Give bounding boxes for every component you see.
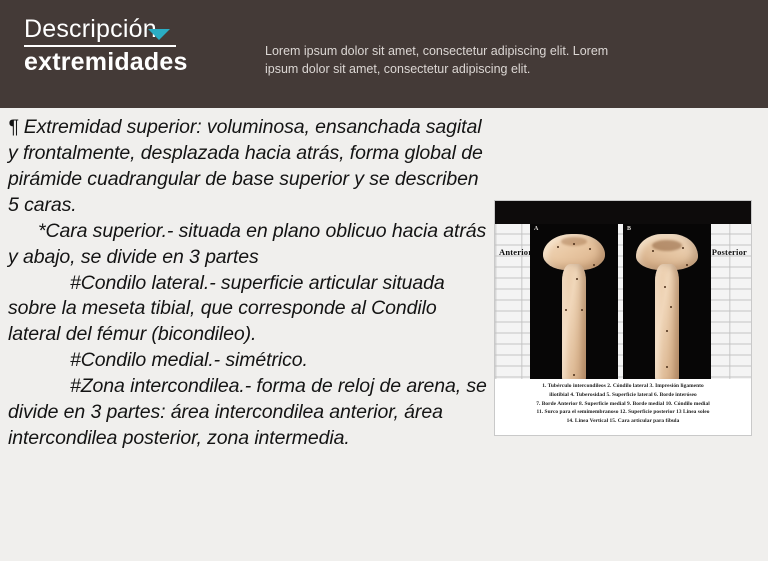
page-title: Descripción extremidades bbox=[24, 16, 234, 76]
marker-dot bbox=[573, 243, 575, 245]
paragraph-extremidad-superior: ¶ Extremidad superior: voluminosa, ensan… bbox=[8, 115, 490, 219]
marker-dot bbox=[652, 250, 654, 252]
paragraph-condilo-medial: #Condilo medial.- simétrico. bbox=[8, 348, 490, 374]
marker-dot bbox=[664, 286, 666, 288]
tibia-shaft bbox=[655, 264, 679, 379]
tibia-photo-posterior: B bbox=[623, 224, 711, 379]
anatomy-figure: Anterior Posterior A B bbox=[494, 200, 752, 436]
marker-dot bbox=[557, 246, 559, 248]
caption-line: 11. Surco para el semimembranoso 12. Sup… bbox=[499, 408, 747, 417]
marker-dot bbox=[589, 248, 591, 250]
caption-line: 7. Borde Anterior 8. Superficie medial 9… bbox=[499, 400, 747, 409]
paragraph-zona-intercondilea: #Zona intercondilea.- forma de reloj de … bbox=[8, 374, 490, 452]
figure-caption: 1. Tubérculo intercondileos 2. Cóndilo l… bbox=[495, 379, 751, 426]
header-placeholder-text: Lorem ipsum dolor sit amet, consectetur … bbox=[265, 42, 615, 78]
marker-dot bbox=[666, 330, 668, 332]
marker-dot bbox=[593, 264, 595, 266]
paragraph-cara-superior: *Cara superior.- situada en plano oblicu… bbox=[8, 219, 490, 271]
caption-line: iliotibial 4. Tuberosidad 5. Superficie … bbox=[499, 391, 747, 400]
title-line-1: Descripción bbox=[24, 16, 234, 44]
intercondylar-notch bbox=[652, 240, 682, 251]
description-text-block: ¶ Extremidad superior: voluminosa, ensan… bbox=[8, 115, 490, 452]
paragraph-condilo-lateral: #Condilo lateral.- superficie articular … bbox=[8, 271, 490, 349]
title-divider-rule bbox=[24, 45, 176, 47]
triangle-down-icon bbox=[148, 29, 170, 40]
tibia-shaft bbox=[562, 264, 586, 379]
slide-header: Descripción extremidades Lorem ipsum dol… bbox=[0, 0, 768, 108]
marker-dot bbox=[581, 309, 583, 311]
marker-dot bbox=[686, 264, 688, 266]
marker-dot bbox=[666, 366, 668, 368]
marker-dot bbox=[682, 247, 684, 249]
tibia-photo-anterior: A bbox=[530, 224, 618, 379]
figure-label-posterior: Posterior bbox=[712, 247, 747, 257]
caption-line: 1. Tubérculo intercondileos 2. Cóndilo l… bbox=[499, 382, 747, 391]
figure-label-anterior: Anterior bbox=[499, 247, 532, 257]
tibia-bone-illustration-posterior bbox=[636, 234, 698, 379]
panel-letter-b: B bbox=[627, 226, 631, 232]
marker-dot bbox=[670, 306, 672, 308]
panel-letter-a: A bbox=[534, 226, 538, 232]
figure-top-band bbox=[495, 201, 751, 224]
title-line-2: extremidades bbox=[24, 49, 234, 77]
marker-dot bbox=[576, 278, 578, 280]
marker-dot bbox=[565, 309, 567, 311]
caption-line: 14. Linea Vertical 15. Cara articular pa… bbox=[499, 417, 747, 426]
marker-dot bbox=[573, 374, 575, 376]
tibia-bone-illustration-anterior bbox=[543, 234, 605, 379]
figure-photo-stage: Anterior Posterior A B bbox=[495, 224, 751, 379]
